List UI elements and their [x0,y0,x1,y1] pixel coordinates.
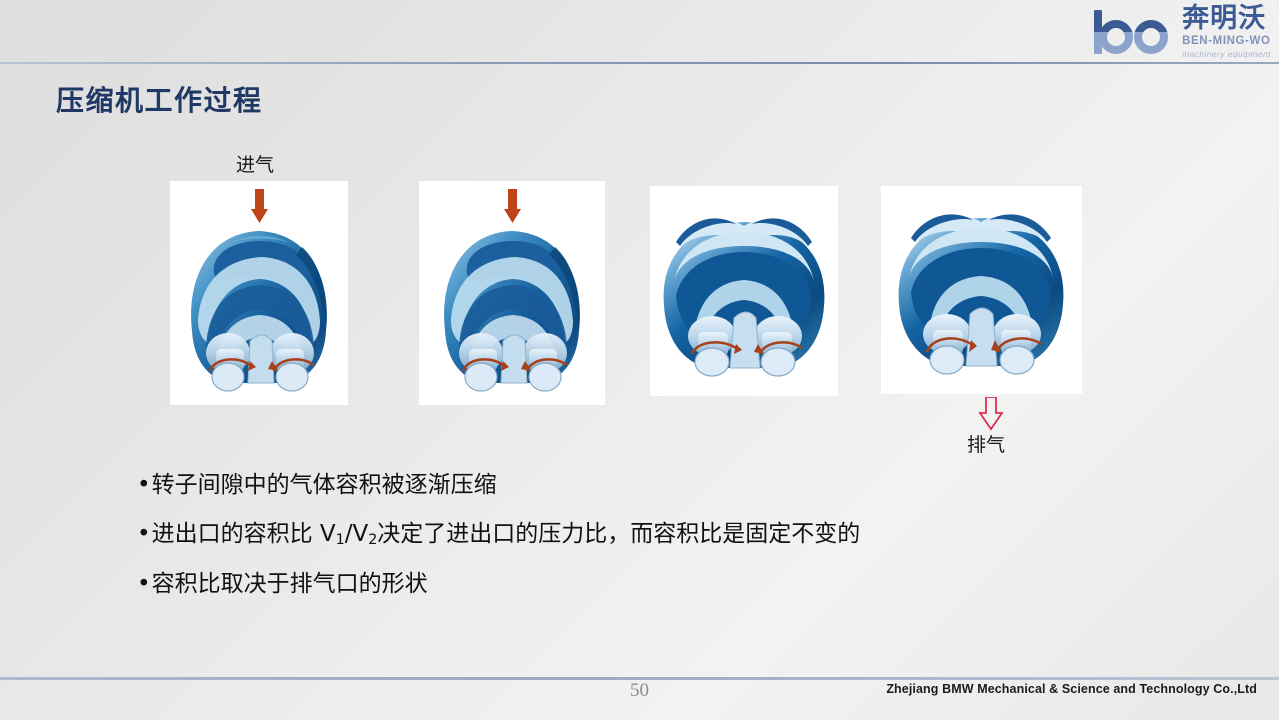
exhaust-label: 排气 [967,430,1005,457]
bullet-marker: • [137,472,151,498]
bullet-item-2: •进出口的容积比 V1/V2决定了进出口的压力比，而容积比是固定不变的 [137,523,1187,547]
logo-name-cn: 奔明沃 [1182,5,1266,32]
bullet-text-3: 容积比取决于排气口的形状 [152,571,428,597]
page-title: 压缩机工作过程 [56,79,263,119]
bullet-text-2-mid: /V [345,521,368,547]
bullet-item-3: •容积比取决于排气口的形状 [137,573,1187,596]
logo-name-en: BEN-MING-WO [1182,34,1270,48]
bullet-list: •转子间隙中的气体容积被逐渐压缩 •进出口的容积比 V1/V2决定了进出口的压力… [137,474,1187,622]
bullet-text-1: 转子间隙中的气体容积被逐渐压缩 [152,472,497,498]
intake-label: 进气 [236,150,274,177]
bullet-text-2-sub1: 1 [336,532,345,548]
company-logo: 奔明沃 BEN-MING-WO machinery equipment [1047,4,1271,60]
exhaust-arrow-icon [977,397,1005,431]
bullet-text-2-post: 决定了进出口的压力比，而容积比是固定不变的 [377,521,860,547]
bullet-text-2-sub2: 2 [368,532,377,548]
rotor-figure-stage-4 [881,186,1082,394]
bo-monogram-icon [1094,10,1180,54]
logo-tagline: machinery equipment [1182,49,1271,59]
rotor-figure-stage-1 [170,181,348,405]
footer-company-name: Zhejiang BMW Mechanical & Science and Te… [886,682,1257,696]
header-divider [0,62,1279,64]
bullet-marker: • [137,521,151,547]
bullet-text-2-pre: 进出口的容积比 V [152,521,336,547]
bullet-item-1: •转子间隙中的气体容积被逐渐压缩 [137,474,1187,497]
bullet-marker: • [137,571,151,597]
rotor-figure-stage-2 [419,181,605,405]
rotor-figure-stage-3 [650,186,838,396]
logo-text-block: 奔明沃 BEN-MING-WO machinery equipment [1182,5,1271,59]
